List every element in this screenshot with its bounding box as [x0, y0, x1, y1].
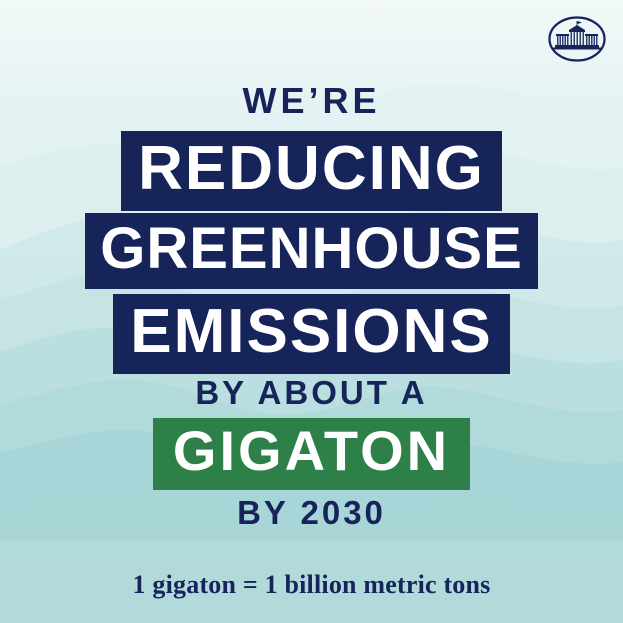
- headline-line-emissions: EMISSIONS: [113, 294, 510, 374]
- headline-line-reducing-row: REDUCING: [0, 131, 623, 211]
- footnote-text: 1 gigaton = 1 billion metric tons: [0, 570, 623, 600]
- headline-line-gigaton-row: GIGATON: [0, 418, 623, 490]
- headline-line-by-about-a: BY ABOUT A: [0, 374, 623, 412]
- headline-line-emissions-row: EMISSIONS: [0, 294, 623, 374]
- headline-stack: WE’RE REDUCING GREENHOUSE EMISSIONS BY A…: [0, 0, 623, 623]
- headline-line-by-2030: BY 2030: [0, 494, 623, 532]
- headline-line-greenhouse: GREENHOUSE: [85, 213, 538, 289]
- headline-line-reducing: REDUCING: [121, 131, 502, 211]
- headline-line-gigaton: GIGATON: [153, 418, 470, 490]
- headline-line-were: WE’RE: [0, 80, 623, 122]
- emissions-poster: WE’RE REDUCING GREENHOUSE EMISSIONS BY A…: [0, 0, 623, 623]
- headline-line-greenhouse-row: GREENHOUSE: [0, 213, 623, 289]
